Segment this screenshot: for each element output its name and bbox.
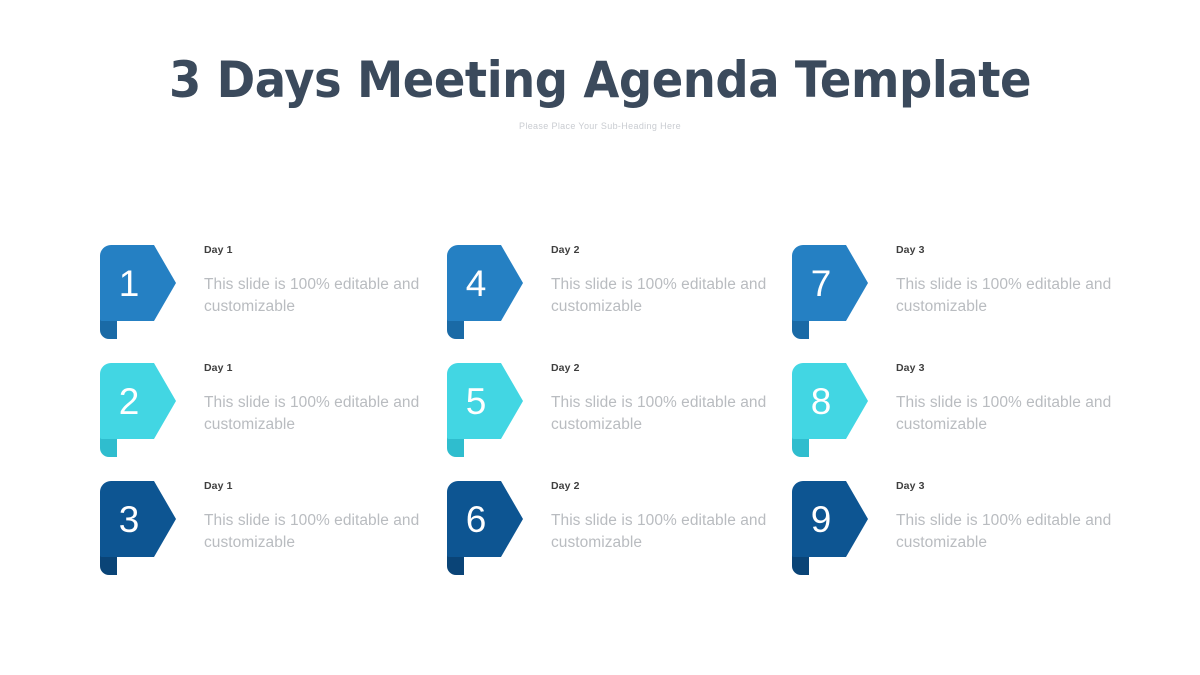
agenda-item[interactable]: 1 Day 1 This slide is 100% editable and …	[96, 232, 443, 350]
agenda-item[interactable]: 9 Day 3 This slide is 100% editable and …	[788, 468, 1133, 586]
agenda-text-block: Day 2 This slide is 100% editable and cu…	[551, 362, 776, 436]
badge-body-shape: 1	[100, 245, 176, 321]
agenda-item[interactable]: 8 Day 3 This slide is 100% editable and …	[788, 350, 1133, 468]
page-title: 3 Days Meeting Agenda Template	[42, 0, 1158, 108]
badge-number: 8	[792, 363, 850, 439]
agenda-badge[interactable]: 1	[100, 245, 176, 339]
agenda-item[interactable]: 3 Day 1 This slide is 100% editable and …	[96, 468, 443, 586]
agenda-badge[interactable]: 2	[100, 363, 176, 457]
page-subtitle: Please Place Your Sub-Heading Here	[0, 108, 1200, 131]
badge-body-shape: 7	[792, 245, 868, 321]
agenda-item[interactable]: 7 Day 3 This slide is 100% editable and …	[788, 232, 1133, 350]
agenda-text-block: Day 2 This slide is 100% editable and cu…	[551, 480, 776, 554]
agenda-text-block: Day 3 This slide is 100% editable and cu…	[896, 244, 1121, 318]
day-label: Day 1	[204, 480, 429, 493]
badge-body-shape: 6	[447, 481, 523, 557]
agenda-text-block: Day 1 This slide is 100% editable and cu…	[204, 362, 429, 436]
badge-body-shape: 8	[792, 363, 868, 439]
agenda-description: This slide is 100% editable and customiz…	[896, 257, 1121, 318]
agenda-badge[interactable]: 4	[447, 245, 523, 339]
agenda-text-block: Day 1 This slide is 100% editable and cu…	[204, 244, 429, 318]
agenda-badge[interactable]: 3	[100, 481, 176, 575]
badge-number: 9	[792, 481, 850, 557]
agenda-text-block: Day 2 This slide is 100% editable and cu…	[551, 244, 776, 318]
badge-number: 7	[792, 245, 850, 321]
day-label: Day 3	[896, 362, 1121, 375]
agenda-item[interactable]: 2 Day 1 This slide is 100% editable and …	[96, 350, 443, 468]
agenda-description: This slide is 100% editable and customiz…	[204, 257, 429, 318]
badge-body-shape: 2	[100, 363, 176, 439]
agenda-badge[interactable]: 5	[447, 363, 523, 457]
badge-number: 5	[447, 363, 505, 439]
day-label: Day 2	[551, 244, 776, 257]
badge-number: 4	[447, 245, 505, 321]
day-label: Day 1	[204, 244, 429, 257]
agenda-item[interactable]: 6 Day 2 This slide is 100% editable and …	[443, 468, 788, 586]
agenda-badge[interactable]: 7	[792, 245, 868, 339]
day-label: Day 3	[896, 244, 1121, 257]
badge-number: 2	[100, 363, 158, 439]
day-label: Day 2	[551, 362, 776, 375]
agenda-badge[interactable]: 8	[792, 363, 868, 457]
agenda-text-block: Day 1 This slide is 100% editable and cu…	[204, 480, 429, 554]
badge-number: 3	[100, 481, 158, 557]
agenda-description: This slide is 100% editable and customiz…	[551, 257, 776, 318]
agenda-item[interactable]: 5 Day 2 This slide is 100% editable and …	[443, 350, 788, 468]
agenda-description: This slide is 100% editable and customiz…	[551, 493, 776, 554]
badge-body-shape: 5	[447, 363, 523, 439]
agenda-item[interactable]: 4 Day 2 This slide is 100% editable and …	[443, 232, 788, 350]
badge-number: 1	[100, 245, 158, 321]
agenda-badge[interactable]: 6	[447, 481, 523, 575]
slide-header: 3 Days Meeting Agenda Template Please Pl…	[0, 0, 1200, 131]
day-label: Day 2	[551, 480, 776, 493]
agenda-description: This slide is 100% editable and customiz…	[896, 375, 1121, 436]
badge-body-shape: 3	[100, 481, 176, 557]
agenda-description: This slide is 100% editable and customiz…	[204, 375, 429, 436]
agenda-grid: 1 Day 1 This slide is 100% editable and …	[96, 232, 1156, 586]
badge-body-shape: 9	[792, 481, 868, 557]
agenda-description: This slide is 100% editable and customiz…	[896, 493, 1121, 554]
agenda-description: This slide is 100% editable and customiz…	[551, 375, 776, 436]
agenda-badge[interactable]: 9	[792, 481, 868, 575]
agenda-description: This slide is 100% editable and customiz…	[204, 493, 429, 554]
agenda-text-block: Day 3 This slide is 100% editable and cu…	[896, 362, 1121, 436]
agenda-text-block: Day 3 This slide is 100% editable and cu…	[896, 480, 1121, 554]
badge-number: 6	[447, 481, 505, 557]
day-label: Day 3	[896, 480, 1121, 493]
day-label: Day 1	[204, 362, 429, 375]
badge-body-shape: 4	[447, 245, 523, 321]
